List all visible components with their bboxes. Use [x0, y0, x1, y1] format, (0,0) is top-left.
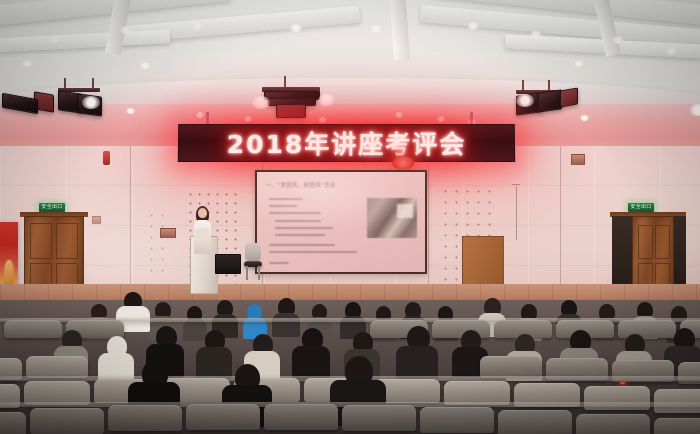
wall-sign-box	[160, 228, 176, 238]
slide-body-line	[269, 251, 357, 253]
auditorium-seat[interactable]	[264, 404, 338, 430]
par-can	[538, 89, 562, 112]
spotlight-flare	[252, 96, 270, 109]
exit-sign-right: 安全出口	[628, 203, 654, 212]
downlight	[395, 112, 403, 118]
auditorium-seat[interactable]	[26, 356, 88, 378]
downlight	[666, 47, 677, 55]
projection-screen: 一、"学团风，树团风"活动	[257, 172, 425, 272]
led-banner: 2018年讲座考评会	[178, 124, 515, 162]
spotlight-flare	[82, 96, 100, 109]
spotlight-flare	[516, 94, 534, 107]
stage-chair	[243, 243, 263, 279]
wall-sign-box	[571, 154, 585, 165]
par-can	[560, 87, 578, 107]
downlight	[290, 24, 302, 32]
ceiling-beam	[0, 29, 170, 52]
slide-body-line	[269, 198, 303, 200]
door-panel	[638, 225, 653, 259]
downlight	[318, 117, 327, 123]
ceiling-rib	[390, 0, 410, 60]
audience-member	[340, 302, 366, 332]
slide-body-line	[275, 234, 325, 236]
door-panel	[56, 223, 78, 259]
slide-body-line	[269, 262, 289, 264]
downlight	[196, 112, 204, 118]
downlight	[437, 116, 445, 122]
spotlight-flare	[690, 104, 700, 116]
downlight	[120, 26, 132, 34]
auditorium-seat[interactable]	[342, 405, 416, 431]
audience-member	[396, 326, 438, 376]
downlight	[22, 60, 33, 67]
slide-photo	[367, 198, 417, 238]
presenter	[192, 208, 214, 262]
door-panel	[655, 225, 670, 259]
auditorium-seat[interactable]	[0, 412, 26, 434]
downlight	[244, 116, 252, 122]
chair-back	[245, 243, 261, 261]
slide-body-line	[269, 205, 297, 207]
downlight	[467, 22, 479, 30]
light-bar	[276, 104, 306, 118]
auditorium-seat[interactable]	[576, 414, 650, 434]
audience-area	[0, 300, 700, 434]
auditorium-seat[interactable]	[654, 389, 700, 413]
ceiling	[0, 0, 700, 120]
auditorium-seat[interactable]	[498, 410, 572, 434]
spotlight-flare	[318, 94, 335, 106]
chair-leg	[246, 266, 248, 280]
slide-title: 一、"学团风，树团风"活动	[266, 181, 335, 189]
wall-cable	[516, 186, 517, 240]
auditorium-seat[interactable]	[108, 405, 182, 431]
fire-extinguisher	[103, 151, 110, 165]
presenter-arms	[196, 228, 209, 238]
exit-sign-label: 安全出口	[39, 203, 65, 212]
led-banner-text: 2018年讲座考评会	[179, 125, 514, 161]
wall-panel	[462, 236, 504, 290]
exit-sign-label: 安全出口	[628, 203, 654, 212]
auditorium-seat[interactable]	[480, 356, 542, 378]
projection-screen-frame: 一、"学团风，树团风"活动	[255, 170, 427, 274]
exit-sign-left: 安全出口	[39, 203, 65, 212]
seat-row-light	[620, 382, 625, 384]
slide-body-line	[269, 244, 335, 246]
chair-leg	[258, 266, 260, 280]
auditorium-photo: 2018年讲座考评会 一、"学团风，树团风"活动 安全出口 安全出口	[0, 0, 700, 434]
downlight	[612, 36, 624, 44]
auditorium-seat[interactable]	[654, 418, 700, 434]
downlight	[192, 22, 203, 30]
presenter-head	[198, 208, 207, 218]
auditorium-seat[interactable]	[420, 407, 494, 433]
slide-body-line	[275, 220, 321, 222]
wall-seam	[130, 146, 131, 306]
wall-cable	[512, 184, 520, 185]
wall-switch-plate[interactable]	[92, 216, 101, 224]
audience-member	[212, 300, 238, 330]
stage-monitor	[215, 254, 241, 274]
downlight	[126, 108, 135, 114]
audience-member	[272, 298, 300, 330]
slide-body-line	[275, 227, 333, 229]
downlight	[370, 25, 382, 33]
downlight	[580, 115, 589, 121]
downlight	[574, 60, 584, 67]
acoustic-panel-far-left	[146, 210, 170, 280]
downlight	[530, 31, 542, 39]
downlight	[48, 34, 61, 43]
wall-seam	[428, 146, 429, 306]
door-panel	[30, 223, 52, 259]
downlight	[140, 62, 150, 69]
auditorium-seat[interactable]	[30, 408, 104, 434]
audience-member	[292, 328, 330, 374]
wall-seam	[560, 146, 561, 306]
slide-body-line	[269, 212, 321, 214]
person-body	[292, 346, 330, 380]
red-lamp	[392, 156, 414, 170]
auditorium-seat[interactable]	[186, 404, 260, 430]
